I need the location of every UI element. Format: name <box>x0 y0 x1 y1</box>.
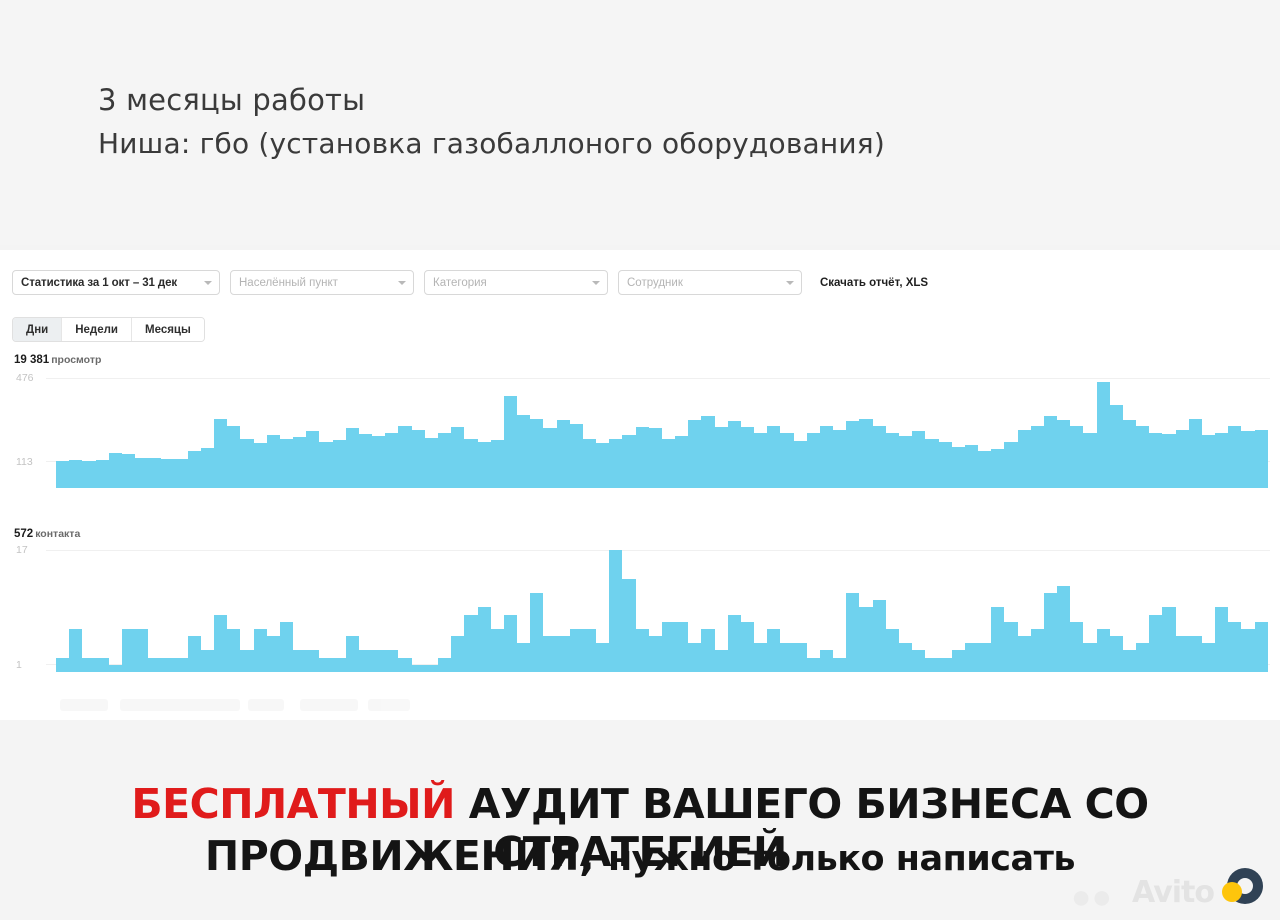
logo-circle-purple-icon <box>1062 146 1110 194</box>
tab-days[interactable]: Дни <box>13 318 62 341</box>
bar <box>1241 629 1254 672</box>
bar <box>767 629 780 672</box>
bar <box>1004 442 1017 488</box>
bar <box>530 419 543 488</box>
bar <box>56 658 69 672</box>
bar <box>1228 426 1241 488</box>
bar <box>807 433 820 488</box>
bar <box>1044 416 1057 488</box>
watermark-text: Avito <box>1132 875 1214 910</box>
bar <box>557 636 570 672</box>
bar <box>1083 433 1096 488</box>
ghost-chip <box>368 699 410 711</box>
bar <box>965 445 978 488</box>
bar <box>649 636 662 672</box>
bar <box>636 427 649 488</box>
bar <box>161 658 174 672</box>
bar <box>333 658 346 672</box>
views-value: 19 381 <box>14 354 49 366</box>
bar <box>543 428 556 488</box>
bar <box>767 426 780 488</box>
chevron-down-icon <box>398 281 406 285</box>
ghost-filter-artifacts <box>0 690 1280 720</box>
bar <box>833 658 846 672</box>
bar <box>267 435 280 488</box>
bar <box>188 451 201 488</box>
bar <box>728 615 741 672</box>
bar <box>1097 629 1110 672</box>
cta-line-2-bold: ПРОДВИЖЕНИЯ, <box>205 832 594 880</box>
ghost-chip <box>300 699 358 711</box>
bar <box>293 650 306 672</box>
bar <box>122 629 135 672</box>
bar <box>280 439 293 488</box>
bar <box>359 434 372 488</box>
bar <box>675 622 688 672</box>
views-chart: 476 113 <box>0 378 1280 488</box>
bar <box>596 443 609 488</box>
bar <box>715 650 728 672</box>
period-select[interactable]: Статистика за 1 окт – 31 дек <box>12 270 220 295</box>
bar <box>412 430 425 488</box>
bar <box>583 439 596 488</box>
bar <box>846 593 859 672</box>
filter-bar: Статистика за 1 окт – 31 дек Населённый … <box>12 270 928 295</box>
bar <box>1162 434 1175 488</box>
bar <box>504 396 517 488</box>
bar <box>306 650 319 672</box>
bar <box>741 622 754 672</box>
contacts-axis-bottom-label: 1 <box>16 659 22 671</box>
bar <box>1083 643 1096 672</box>
bar <box>372 436 385 488</box>
bar <box>425 438 438 488</box>
ghost-chip <box>60 699 108 711</box>
bar <box>306 431 319 488</box>
bar <box>1070 426 1083 488</box>
ghost-chip <box>248 699 284 711</box>
bar <box>1057 586 1070 672</box>
bar <box>715 427 728 488</box>
bar <box>491 629 504 672</box>
employee-select-label: Сотрудник <box>627 277 683 289</box>
bar <box>780 433 793 488</box>
bar <box>807 658 820 672</box>
header-line-2: Ниша: гбо (установка газобаллоного обору… <box>98 122 885 166</box>
bar <box>741 427 754 488</box>
bar <box>570 629 583 672</box>
bar <box>451 636 464 672</box>
bar <box>886 433 899 488</box>
bar <box>1149 433 1162 488</box>
bar <box>701 416 714 488</box>
bar <box>188 636 201 672</box>
bar <box>398 426 411 488</box>
bar <box>662 622 675 672</box>
bar <box>227 629 240 672</box>
bar <box>873 426 886 488</box>
bar <box>820 426 833 488</box>
bar <box>438 433 451 488</box>
contacts-unit: контакта <box>35 528 80 540</box>
header-line-1: 3 месяцы работы <box>98 78 885 122</box>
bar <box>912 431 925 488</box>
bar <box>346 636 359 672</box>
bar <box>1189 636 1202 672</box>
contacts-chart: 17 1 <box>0 550 1280 672</box>
bar <box>1136 426 1149 488</box>
bar <box>82 658 95 672</box>
views-axis-top-label: 476 <box>16 372 34 384</box>
bar <box>1215 607 1228 672</box>
bar <box>96 658 109 672</box>
bar <box>1018 430 1031 488</box>
bar <box>56 461 69 488</box>
bar <box>319 442 332 488</box>
bar <box>952 447 965 488</box>
views-unit: просмотр <box>51 354 101 366</box>
bar <box>464 439 477 488</box>
chevron-down-icon <box>204 281 212 285</box>
employee-select[interactable]: Сотрудник <box>618 270 802 295</box>
bar <box>491 440 504 488</box>
bar <box>425 665 438 672</box>
bar <box>649 428 662 488</box>
avito-watermark: ●● Avito <box>1032 856 1272 916</box>
promo-page: 3 месяцы работы Ниша: гбо (установка газ… <box>0 0 1280 920</box>
bar <box>609 550 622 672</box>
bar <box>438 658 451 672</box>
bar <box>899 643 912 672</box>
contacts-bars <box>56 550 1268 672</box>
bar <box>175 658 188 672</box>
bar <box>1202 643 1215 672</box>
bar <box>886 629 899 672</box>
bar <box>1228 622 1241 672</box>
logo-circle-red-icon <box>1149 45 1215 111</box>
bar <box>346 428 359 488</box>
bar <box>952 650 965 672</box>
tab-months[interactable]: Месяцы <box>132 318 204 341</box>
bar <box>161 459 174 488</box>
bar <box>583 629 596 672</box>
bar <box>1202 435 1215 488</box>
contacts-caption: 572контакта <box>14 528 80 540</box>
bar <box>596 643 609 672</box>
logo-circle-blue-icon <box>1042 28 1130 116</box>
bar <box>833 430 846 488</box>
period-granularity-tabs: Дни Недели Месяцы <box>12 317 205 342</box>
avito-statistics-panel: Статистика за 1 окт – 31 дек Населённый … <box>0 250 1280 720</box>
bar <box>478 607 491 672</box>
bar <box>464 615 477 672</box>
bar <box>1162 607 1175 672</box>
bar <box>1110 636 1123 672</box>
bar <box>609 439 622 488</box>
bar <box>69 629 82 672</box>
bar <box>978 643 991 672</box>
bar <box>214 419 227 488</box>
ghost-chip <box>120 699 240 711</box>
bar <box>109 453 122 488</box>
bar <box>991 607 1004 672</box>
bar <box>1255 622 1268 672</box>
bar <box>846 421 859 488</box>
bar <box>1070 622 1083 672</box>
bar <box>820 650 833 672</box>
bar <box>69 460 82 488</box>
bar <box>319 658 332 672</box>
bar <box>333 440 346 488</box>
bar <box>754 643 767 672</box>
bar <box>873 600 886 672</box>
bar <box>939 442 952 488</box>
bar <box>636 629 649 672</box>
bar <box>372 650 385 672</box>
bar <box>135 629 148 672</box>
bar <box>1136 643 1149 672</box>
contacts-value: 572 <box>14 528 33 540</box>
contacts-axis-top-label: 17 <box>16 544 28 556</box>
bar <box>1031 629 1044 672</box>
bar <box>240 439 253 488</box>
bar <box>1018 636 1031 672</box>
bar <box>859 419 872 488</box>
bar <box>148 458 161 488</box>
bar <box>254 443 267 488</box>
bar <box>570 424 583 488</box>
views-caption: 19 381просмотр <box>14 354 101 366</box>
bar <box>451 427 464 488</box>
bar <box>240 650 253 672</box>
bar <box>1123 650 1136 672</box>
bar <box>701 629 714 672</box>
bar <box>794 441 807 488</box>
bar <box>135 458 148 489</box>
download-xls-link[interactable]: Скачать отчёт, XLS <box>820 277 928 289</box>
bar <box>398 658 411 672</box>
logo-circle-green-icon <box>1138 122 1240 224</box>
bar <box>227 426 240 488</box>
bar <box>543 636 556 672</box>
bar <box>385 433 398 488</box>
chevron-down-icon <box>786 281 794 285</box>
cta-line-2-rest: нужно только написать <box>608 839 1075 879</box>
bar <box>622 579 635 672</box>
bar <box>1044 593 1057 672</box>
bar <box>688 420 701 488</box>
bar <box>978 451 991 488</box>
header-band: 3 месяцы работы Ниша: гбо (установка газ… <box>0 0 1280 245</box>
bar <box>925 439 938 488</box>
category-select-label: Категория <box>433 277 487 289</box>
cta-free-word: БЕСПЛАТНЫЙ <box>131 780 455 828</box>
location-select[interactable]: Населённый пункт <box>230 270 414 295</box>
bar <box>1031 426 1044 488</box>
bar <box>254 629 267 672</box>
bar <box>517 643 530 672</box>
logo-circles <box>1026 18 1256 223</box>
bar <box>412 665 425 672</box>
bar <box>530 593 543 672</box>
bar <box>1176 636 1189 672</box>
bar <box>109 665 122 672</box>
bar <box>965 643 978 672</box>
bar <box>1110 405 1123 488</box>
bar <box>728 421 741 488</box>
people-icon: ●● <box>1071 880 1112 914</box>
bar <box>96 460 109 488</box>
bar <box>1097 382 1110 488</box>
bar <box>280 622 293 672</box>
cta-band: БЕСПЛАТНЫЙ АУДИТ ВАШЕГО БИЗНЕСА СО СТРАТ… <box>0 720 1280 920</box>
bar <box>478 442 491 488</box>
bar <box>939 658 952 672</box>
bar <box>201 448 214 488</box>
bar <box>899 436 912 488</box>
bar <box>385 650 398 672</box>
bar <box>912 650 925 672</box>
bar <box>991 449 1004 488</box>
bar <box>688 643 701 672</box>
bar <box>1215 433 1228 488</box>
bar <box>359 650 372 672</box>
bar <box>557 420 570 488</box>
bar <box>675 436 688 488</box>
bar <box>1176 430 1189 488</box>
bar <box>1241 431 1254 488</box>
views-axis-bottom-label: 113 <box>16 456 33 468</box>
bar <box>1255 430 1268 488</box>
avito-logo-icon <box>1218 862 1266 910</box>
location-select-label: Населённый пункт <box>239 277 338 289</box>
bar <box>122 454 135 488</box>
bar <box>82 461 95 489</box>
bar <box>794 643 807 672</box>
bar <box>148 658 161 672</box>
bar <box>780 643 793 672</box>
tab-weeks[interactable]: Недели <box>62 318 132 341</box>
bar <box>1004 622 1017 672</box>
bar <box>175 459 188 488</box>
bar <box>504 615 517 672</box>
bar <box>925 658 938 672</box>
views-bars <box>56 378 1268 488</box>
bar <box>1149 615 1162 672</box>
period-select-label: Статистика за 1 окт – 31 дек <box>21 277 177 289</box>
category-select[interactable]: Категория <box>424 270 608 295</box>
bar <box>859 607 872 672</box>
bar <box>517 415 530 488</box>
bar <box>214 615 227 672</box>
bar <box>201 650 214 672</box>
header-text: 3 месяцы работы Ниша: гбо (установка газ… <box>98 78 885 166</box>
bar <box>754 433 767 488</box>
bar <box>622 435 635 488</box>
bar <box>1057 420 1070 488</box>
bar <box>1123 420 1136 488</box>
bar <box>1189 419 1202 488</box>
chevron-down-icon <box>592 281 600 285</box>
bar <box>662 439 675 488</box>
bar <box>293 437 306 488</box>
bar <box>267 636 280 672</box>
